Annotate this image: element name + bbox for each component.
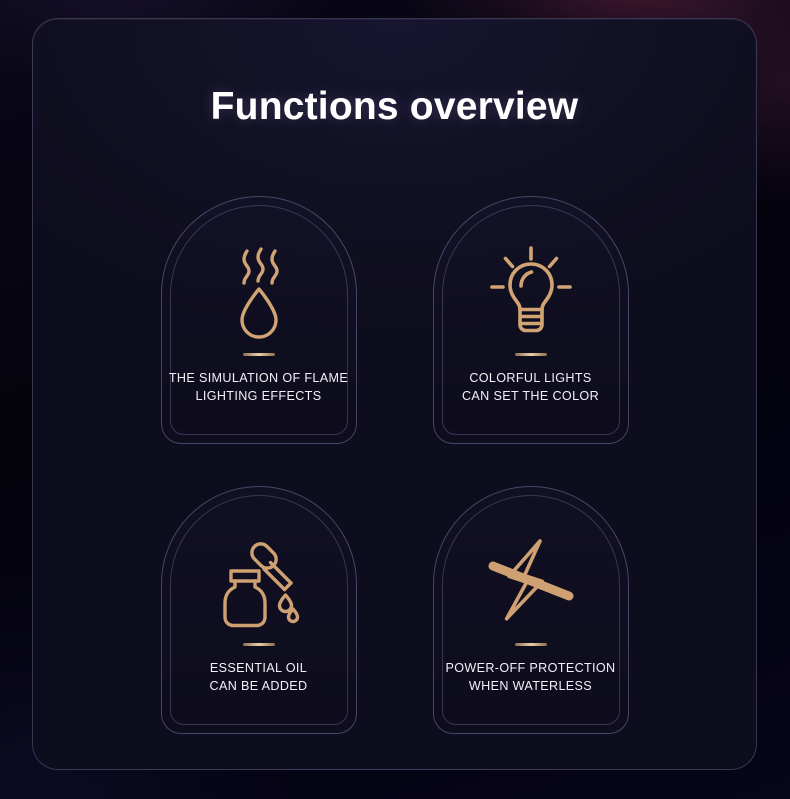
lightning-bolt-off-icon — [482, 533, 580, 629]
card-caption-line1: POWER-OFF PROTECTION — [445, 661, 615, 675]
card-caption: COLORFUL LIGHTS CAN SET THE COLOR — [462, 370, 599, 405]
functions-overview-panel: Functions overview THE SIMUL — [32, 18, 757, 770]
card-caption-line2: CAN SET THE COLOR — [462, 388, 599, 406]
page-backdrop: Functions overview THE SIMUL — [0, 0, 790, 799]
feature-card-flame-simulation[interactable]: THE SIMULATION OF FLAME LIGHTING EFFECTS — [161, 196, 357, 444]
page-title: Functions overview — [33, 87, 756, 126]
feature-card-power-off-protection[interactable]: POWER-OFF PROTECTION WHEN WATERLESS — [433, 486, 629, 734]
card-caption-line1: THE SIMULATION OF FLAME — [169, 371, 348, 385]
feature-card-essential-oil[interactable]: ESSENTIAL OIL CAN BE ADDED — [161, 486, 357, 734]
card-caption-line1: COLORFUL LIGHTS — [469, 371, 591, 385]
card-divider — [243, 643, 275, 646]
card-divider — [515, 353, 547, 356]
feature-card-colorful-lights[interactable]: COLORFUL LIGHTS CAN SET THE COLOR — [433, 196, 629, 444]
steam-water-drop-icon — [227, 243, 291, 339]
card-caption-line1: ESSENTIAL OIL — [210, 661, 307, 675]
card-caption: THE SIMULATION OF FLAME LIGHTING EFFECTS — [169, 370, 348, 405]
light-bulb-icon — [488, 243, 574, 339]
oil-bottle-dropper-icon — [213, 533, 305, 629]
card-caption-line2: LIGHTING EFFECTS — [169, 388, 348, 406]
card-caption: ESSENTIAL OIL CAN BE ADDED — [210, 660, 308, 695]
card-caption: POWER-OFF PROTECTION WHEN WATERLESS — [445, 660, 615, 695]
feature-card-grid: THE SIMULATION OF FLAME LIGHTING EFFECTS — [33, 196, 756, 734]
card-caption-line2: WHEN WATERLESS — [445, 678, 615, 696]
card-caption-line2: CAN BE ADDED — [210, 678, 308, 696]
card-divider — [243, 353, 275, 356]
card-divider — [515, 643, 547, 646]
